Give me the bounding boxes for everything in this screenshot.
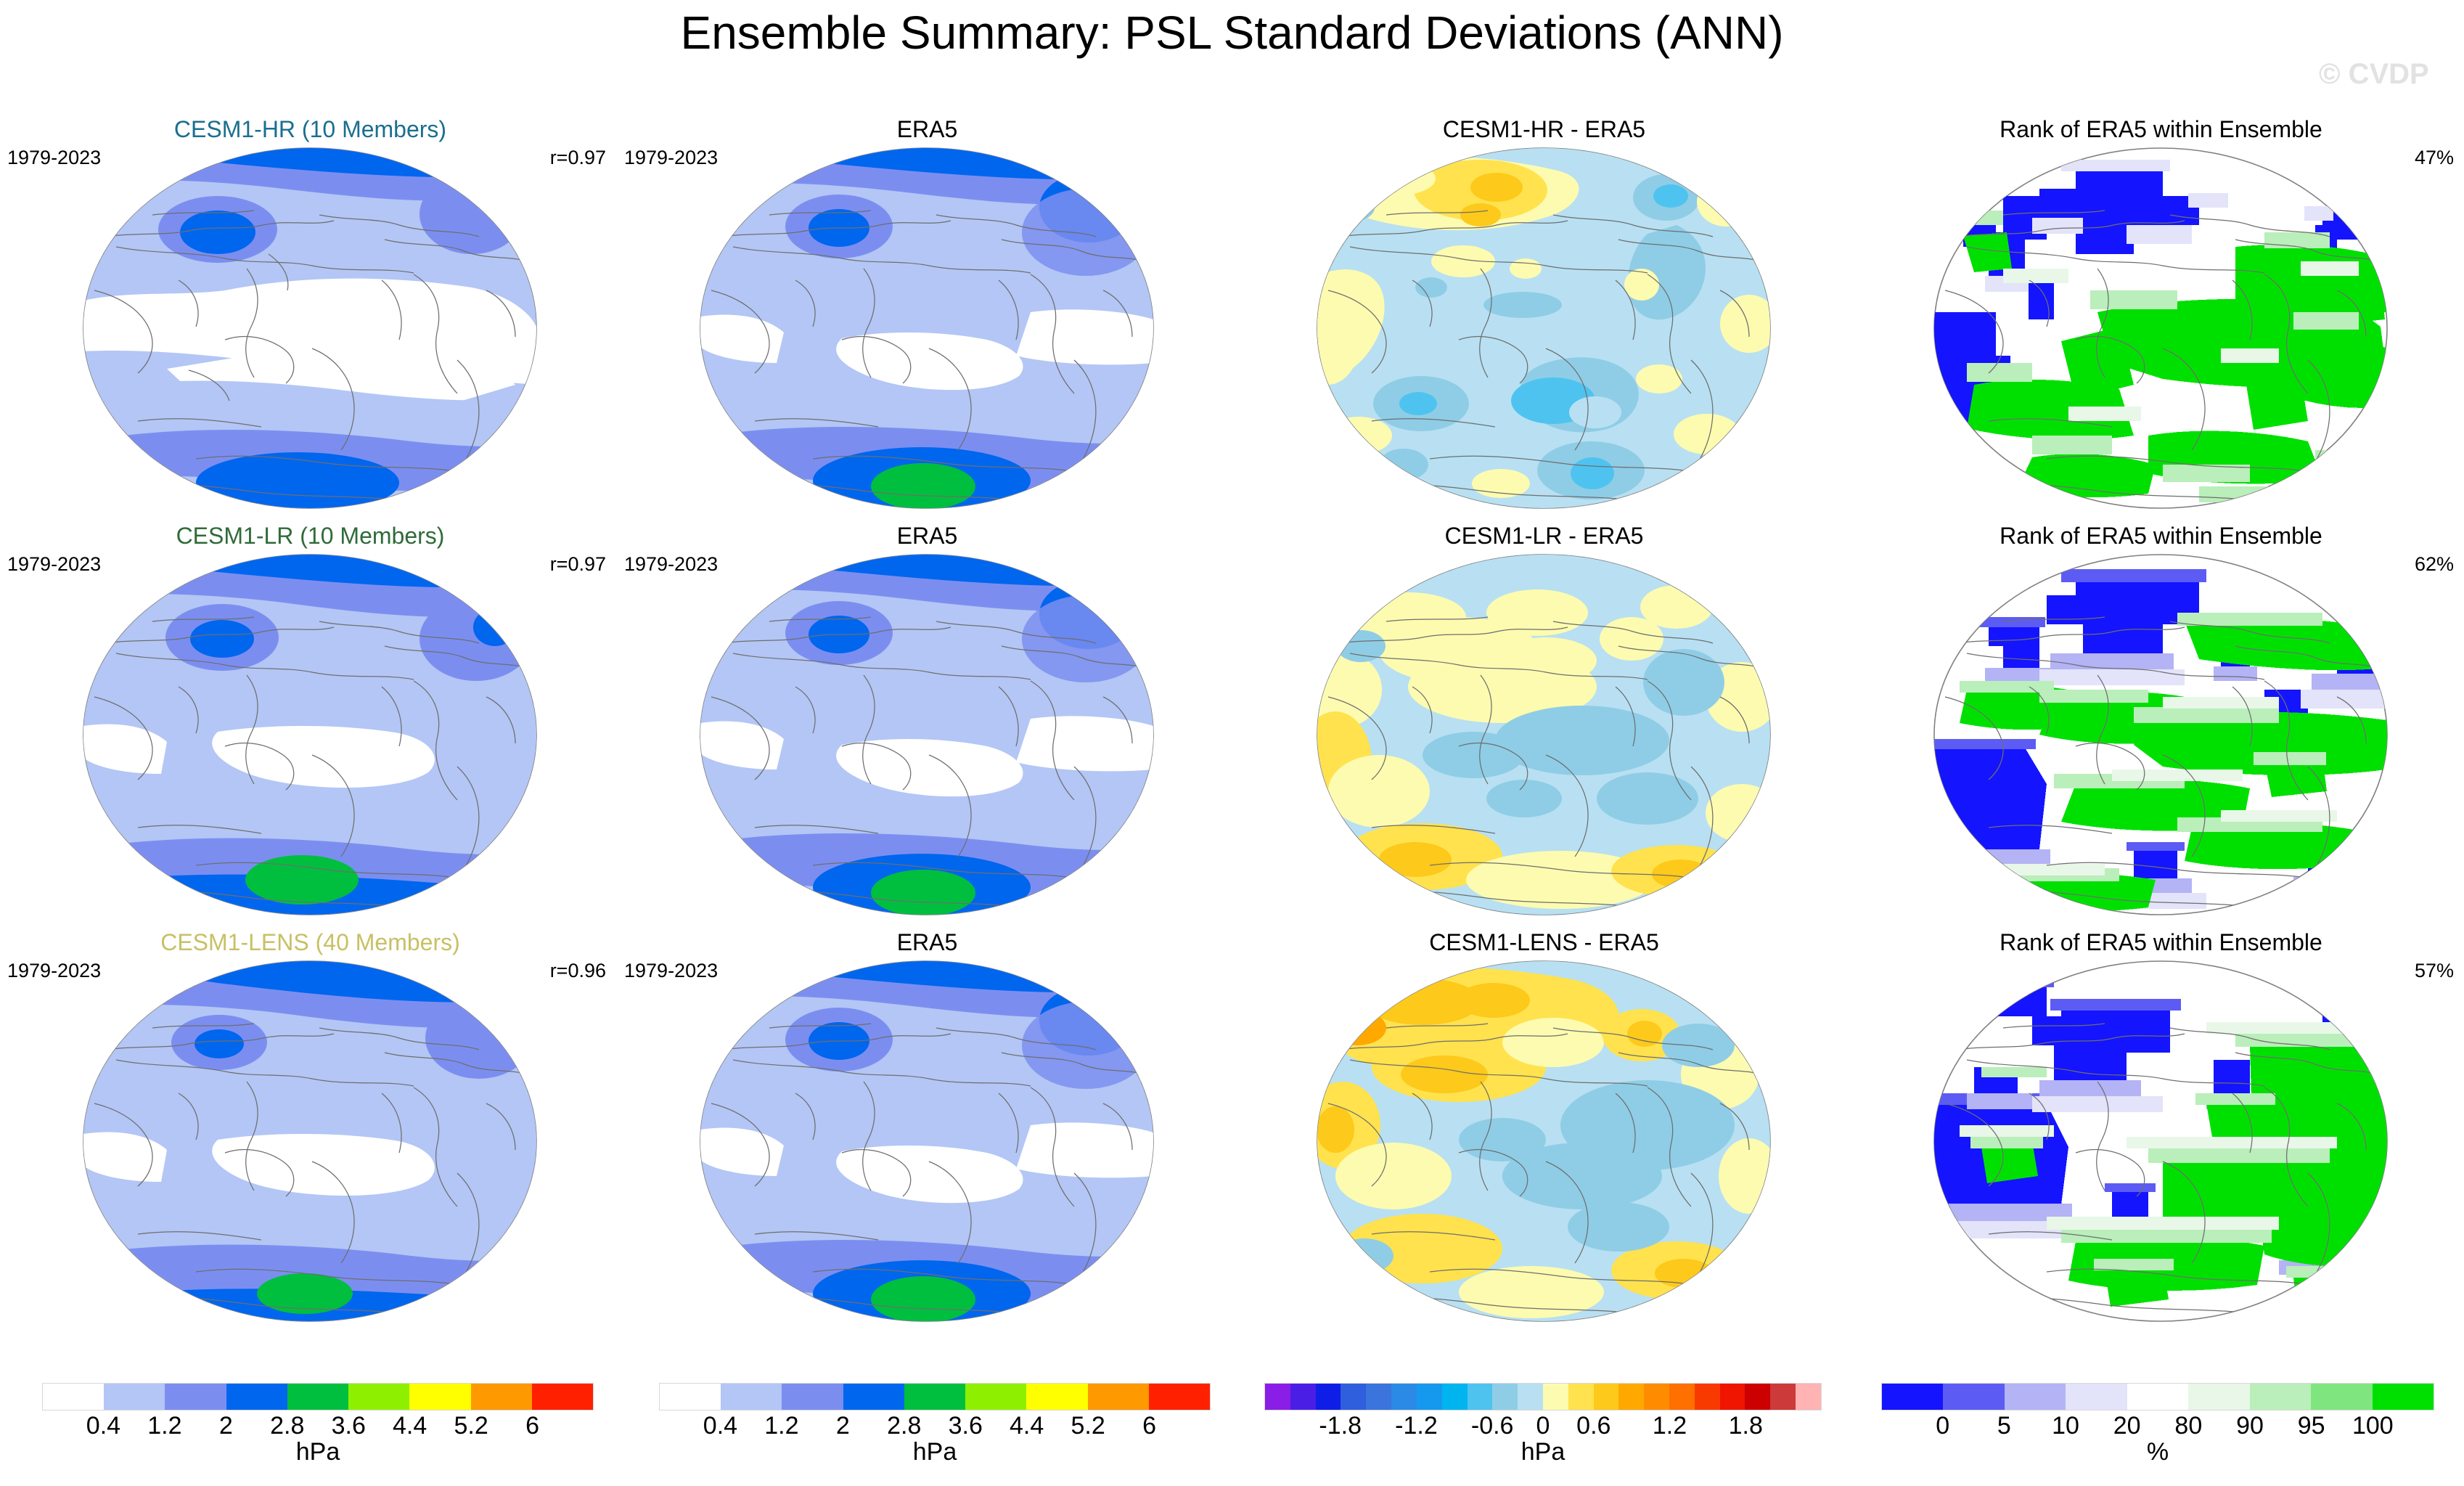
colorbar-tick-label: 2.8 — [270, 1412, 304, 1440]
colorbar-tick-label: 3.6 — [332, 1412, 366, 1440]
globe-svg-obs-row3 — [624, 958, 1230, 1325]
colorbar-swatch-1 — [1943, 1384, 2004, 1410]
panel-title-rank-row1: Rank of ERA5 within Ensemble — [1858, 116, 2464, 143]
globe-svg-obs-row2 — [624, 552, 1230, 918]
panel-rank-row2[interactable]: Rank of ERA5 within Ensemble 62% — [1858, 523, 2464, 922]
panel-title-obs-row3: ERA5 — [624, 929, 1230, 956]
globe-diff-row1[interactable] — [1241, 145, 1847, 512]
panel-title-diff-row2: CESM1-LR - ERA5 — [1241, 523, 1847, 550]
colorbar-tick-label: 80 — [2174, 1412, 2202, 1440]
colorbar-swatch-7 — [2311, 1384, 2372, 1410]
colorbar-tick-label: 2 — [836, 1412, 850, 1440]
globe-svg-model-row1 — [7, 145, 613, 512]
globe-model-row2[interactable] — [7, 552, 613, 918]
colorbar-swatch-3 — [226, 1384, 287, 1410]
colorbar-swatch-6 — [409, 1384, 470, 1410]
panel-title-rank-row2: Rank of ERA5 within Ensemble — [1858, 523, 2464, 550]
globe-rank-row3[interactable] — [1858, 958, 2464, 1325]
colorbar-swatch-8 — [532, 1384, 593, 1410]
colorbar-tick-label: 4.4 — [1010, 1412, 1044, 1440]
colorbar-swatch-15 — [1644, 1384, 1669, 1410]
colorbar-stddev-unit: hPa — [42, 1438, 594, 1466]
colorbar-swatch-16 — [1669, 1384, 1695, 1410]
colorbar-swatch-21 — [1796, 1384, 1821, 1410]
globe-obs-row3[interactable] — [624, 958, 1230, 1325]
panel-title-diff-row1: CESM1-HR - ERA5 — [1241, 116, 1847, 143]
globe-diff-row2[interactable] — [1241, 552, 1847, 918]
panel-rank-row3[interactable]: Rank of ERA5 within Ensemble 57% — [1858, 929, 2464, 1328]
colorbar-rank[interactable]: 051020809095100 % — [1881, 1383, 2434, 1466]
colorbar-swatch-11 — [1543, 1384, 1568, 1410]
colorbar-swatch-13 — [1594, 1384, 1619, 1410]
colorbar-swatch-1 — [1290, 1384, 1316, 1410]
colorbar-swatch-7 — [1442, 1384, 1468, 1410]
colorbar-swatch-5 — [965, 1384, 1026, 1410]
globe-rank-row2[interactable] — [1858, 552, 2464, 918]
panel-diff-row2[interactable]: CESM1-LR - ERA5 — [1241, 523, 1847, 922]
colorbar-rank-unit: % — [1881, 1438, 2434, 1466]
colorbar-difference[interactable]: -1.8-1.2-0.600.61.21.8 hPa — [1264, 1383, 1822, 1466]
colorbar-swatch-20 — [1770, 1384, 1796, 1410]
colorbar-swatch-8 — [1468, 1384, 1493, 1410]
colorbar-swatch-14 — [1618, 1384, 1644, 1410]
colorbar-swatch-3 — [843, 1384, 904, 1410]
globe-diff-row3[interactable] — [1241, 958, 1847, 1325]
colorbar-swatch-3 — [2066, 1384, 2127, 1410]
globe-svg-rank-row3 — [1858, 958, 2464, 1325]
globe-svg-model-row2 — [7, 552, 613, 918]
colorbar-difference-strip[interactable] — [1264, 1383, 1822, 1411]
colorbar-tick-label: -0.6 — [1471, 1412, 1514, 1440]
colorbar-swatch-8 — [2373, 1384, 2434, 1410]
colorbar-swatch-8 — [1149, 1384, 1210, 1410]
colorbar-tick-label: 6 — [525, 1412, 539, 1440]
colorbar-swatch-4 — [2127, 1384, 2188, 1410]
colorbar-swatch-1 — [104, 1384, 165, 1410]
globe-svg-rank-row1 — [1858, 145, 2464, 512]
panel-diff-row1[interactable]: CESM1-HR - ERA5 — [1241, 116, 1847, 515]
panel-title-model-row2: CESM1-LR (10 Members) — [7, 523, 613, 550]
colorbar-swatch-17 — [1695, 1384, 1720, 1410]
panel-obs-row3[interactable]: ERA5 1979-2023 — [624, 929, 1230, 1328]
globe-svg-diff-row3 — [1241, 958, 1847, 1325]
colorbar-tick-label: 0.6 — [1576, 1412, 1610, 1440]
globe-svg-diff-row2 — [1241, 552, 1847, 918]
colorbar-tick-label: 90 — [2236, 1412, 2264, 1440]
panel-obs-row2[interactable]: ERA5 1979-2023 — [624, 523, 1230, 922]
colorbar-swatch-2 — [1316, 1384, 1341, 1410]
colorbar-tick-label: 0 — [1936, 1412, 1949, 1440]
colorbar-swatch-0 — [1882, 1384, 1943, 1410]
colorbar-tick-label: 3.6 — [949, 1412, 983, 1440]
colorbar-rank-labels: 051020809095100 — [1881, 1411, 2434, 1441]
colorbar-difference-labels: -1.8-1.2-0.600.61.21.8 — [1264, 1411, 1822, 1441]
colorbar-stddev-2-strip[interactable] — [659, 1383, 1211, 1411]
colorbar-swatch-5 — [1391, 1384, 1417, 1410]
colorbar-swatch-4 — [1366, 1384, 1391, 1410]
colorbar-tick-label: 6 — [1142, 1412, 1156, 1440]
globe-model-row1[interactable] — [7, 145, 613, 512]
globe-obs-row1[interactable] — [624, 145, 1230, 512]
colorbar-stddev-2[interactable]: 0.41.222.83.64.45.26 hPa — [659, 1383, 1211, 1466]
colorbar-swatch-7 — [471, 1384, 532, 1410]
panel-model-row2[interactable]: CESM1-LR (10 Members) 1979-2023 r=0.97 — [7, 523, 613, 922]
colorbar-swatch-5 — [2188, 1384, 2249, 1410]
panel-title-obs-row2: ERA5 — [624, 523, 1230, 550]
colorbar-stddev-2-unit: hPa — [659, 1438, 1211, 1466]
colorbar-swatch-5 — [348, 1384, 409, 1410]
colorbar-swatch-2 — [782, 1384, 843, 1410]
colorbar-tick-label: 2 — [219, 1412, 233, 1440]
colorbar-swatch-6 — [1026, 1384, 1087, 1410]
globe-svg-obs-row1 — [624, 145, 1230, 512]
colorbar-swatch-6 — [1417, 1384, 1442, 1410]
colorbar-tick-label: 10 — [2052, 1412, 2079, 1440]
colorbar-swatch-12 — [1568, 1384, 1594, 1410]
panel-title-obs-row1: ERA5 — [624, 116, 1230, 143]
colorbar-tick-label: 95 — [2298, 1412, 2325, 1440]
colorbar-swatch-9 — [1492, 1384, 1518, 1410]
colorbar-swatch-0 — [1265, 1384, 1290, 1410]
colorbar-tick-label: 5.2 — [1071, 1412, 1105, 1440]
colorbar-tick-label: 0 — [1536, 1412, 1550, 1440]
cvdp-watermark: © CVDP — [2319, 58, 2429, 91]
page-title: Ensemble Summary: PSL Standard Deviation… — [0, 6, 2464, 60]
colorbar-swatch-0 — [43, 1384, 104, 1410]
colorbar-tick-label: 100 — [2352, 1412, 2394, 1440]
colorbar-tick-label: 5 — [1997, 1412, 2011, 1440]
colorbar-swatch-7 — [1088, 1384, 1149, 1410]
panel-title-diff-row3: CESM1-LENS - ERA5 — [1241, 929, 1847, 956]
colorbar-swatch-10 — [1518, 1384, 1543, 1410]
colorbar-difference-unit: hPa — [1264, 1438, 1822, 1466]
colorbar-tick-label: 4.4 — [393, 1412, 427, 1440]
globe-svg-rank-row2 — [1858, 552, 2464, 918]
colorbar-stddev-2-labels: 0.41.222.83.64.45.26 — [659, 1411, 1211, 1441]
colorbar-tick-label: 1.2 — [764, 1412, 798, 1440]
globe-svg-diff-row1 — [1241, 145, 1847, 512]
panel-title-model-row3: CESM1-LENS (40 Members) — [7, 929, 613, 956]
colorbar-rank-strip[interactable] — [1881, 1383, 2434, 1411]
globe-svg-model-row3 — [7, 958, 613, 1325]
panel-title-model-row1: CESM1-HR (10 Members) — [7, 116, 613, 143]
colorbar-swatch-19 — [1745, 1384, 1770, 1410]
colorbar-swatch-4 — [904, 1384, 965, 1410]
colorbar-tick-label: 1.2 — [1653, 1412, 1687, 1440]
colorbar-tick-label: 0.4 — [703, 1412, 737, 1440]
panel-obs-row1[interactable]: ERA5 1979-2023 — [624, 116, 1230, 515]
colorbar-swatch-18 — [1720, 1384, 1745, 1410]
panel-rank-row1[interactable]: Rank of ERA5 within Ensemble 47% — [1858, 116, 2464, 515]
colorbar-tick-label: 2.8 — [887, 1412, 921, 1440]
colorbar-tick-label: 1.2 — [147, 1412, 181, 1440]
colorbar-swatch-6 — [2250, 1384, 2311, 1410]
colorbar-swatch-3 — [1341, 1384, 1366, 1410]
colorbar-stddev[interactable]: 0.41.222.83.64.45.26 hPa — [42, 1383, 594, 1466]
globe-rank-row1[interactable] — [1858, 145, 2464, 512]
colorbar-swatch-4 — [287, 1384, 348, 1410]
colorbar-swatch-1 — [721, 1384, 782, 1410]
panel-model-row3[interactable]: CESM1-LENS (40 Members) 1979-2023 r=0.96 — [7, 929, 613, 1328]
panel-title-rank-row3: Rank of ERA5 within Ensemble — [1858, 929, 2464, 956]
panel-diff-row3[interactable]: CESM1-LENS - ERA5 — [1241, 929, 1847, 1328]
colorbar-tick-label: -1.2 — [1395, 1412, 1438, 1440]
colorbar-tick-label: 5.2 — [454, 1412, 488, 1440]
colorbar-swatch-0 — [660, 1384, 721, 1410]
colorbar-tick-label: -1.8 — [1319, 1412, 1362, 1440]
globe-model-row3[interactable] — [7, 958, 613, 1325]
colorbar-tick-label: 20 — [2113, 1412, 2141, 1440]
colorbar-tick-label: 1.8 — [1729, 1412, 1763, 1440]
colorbar-swatch-2 — [2005, 1384, 2066, 1410]
colorbar-stddev-labels: 0.41.222.83.64.45.26 — [42, 1411, 594, 1441]
globe-obs-row2[interactable] — [624, 552, 1230, 918]
colorbar-swatch-2 — [165, 1384, 226, 1410]
colorbar-tick-label: 0.4 — [86, 1412, 120, 1440]
colorbar-stddev-strip[interactable] — [42, 1383, 594, 1411]
panel-model-row1[interactable]: CESM1-HR (10 Members) 1979-2023 r=0.97 — [7, 116, 613, 515]
